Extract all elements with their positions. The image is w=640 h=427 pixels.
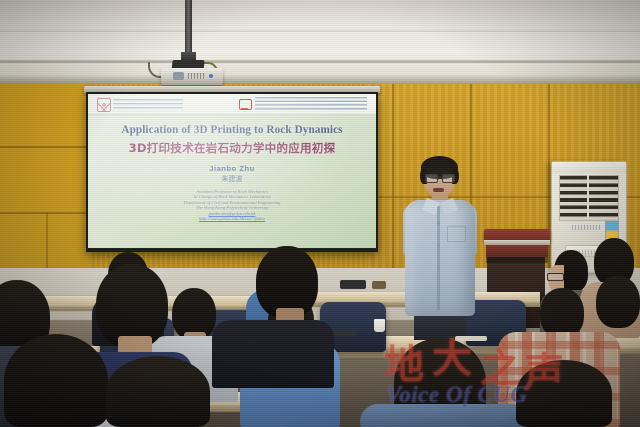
lectern-panel xyxy=(486,245,548,257)
slide-speaker-name-chinese: 朱建波 xyxy=(88,174,376,184)
projector-vent xyxy=(188,73,206,79)
speaker-torso xyxy=(405,200,475,316)
civil-environmental-engineering-logo-icon xyxy=(238,97,251,111)
desk-item-device xyxy=(340,280,366,289)
desk-item-cup xyxy=(374,319,385,332)
lectern-shadow xyxy=(486,257,548,263)
wall-seam xyxy=(548,84,550,280)
wall-left-panel xyxy=(0,84,92,280)
ceiling-seam xyxy=(0,60,640,63)
speaker-shirt-pocket xyxy=(447,226,466,242)
projector-led-icon xyxy=(209,74,213,78)
projection-screen: Application of 3D Printing to Rock Dynam… xyxy=(88,94,376,248)
speaker-glasses-icon xyxy=(425,174,454,182)
polyu-logo-icon xyxy=(97,98,109,110)
slide-website-link[interactable]: http://www.polyu.edu.hk/cee/~jbzhu xyxy=(88,216,376,221)
polyu-logo-text xyxy=(113,99,183,110)
desk-item-bag xyxy=(372,281,386,289)
desk-item-paper xyxy=(455,336,487,341)
department-logo-text xyxy=(255,97,367,110)
slide-title-english: Application of 3D Printing to Rock Dynam… xyxy=(88,124,376,136)
slide-header-bar xyxy=(88,94,376,115)
slide-title-chinese: 3D打印技术在岩石动力学中的应用初探 xyxy=(88,140,376,156)
lecture-hall-photo: Application of 3D Printing to Rock Dynam… xyxy=(0,0,640,427)
projector-lens-icon xyxy=(173,72,184,80)
speaker-mouth xyxy=(433,188,444,192)
ac-vent-divider xyxy=(587,175,589,219)
slide-affiliation: Assistant Professor of Rock Mechanics In… xyxy=(88,189,376,221)
ac-vent-icon xyxy=(559,175,619,221)
ac-brand-label xyxy=(572,225,602,230)
wall-seam xyxy=(392,84,394,280)
ac-top xyxy=(552,162,626,173)
ceiling-seam xyxy=(0,30,640,32)
slide-speaker-name-english: Jianbo Zhu xyxy=(88,164,376,173)
